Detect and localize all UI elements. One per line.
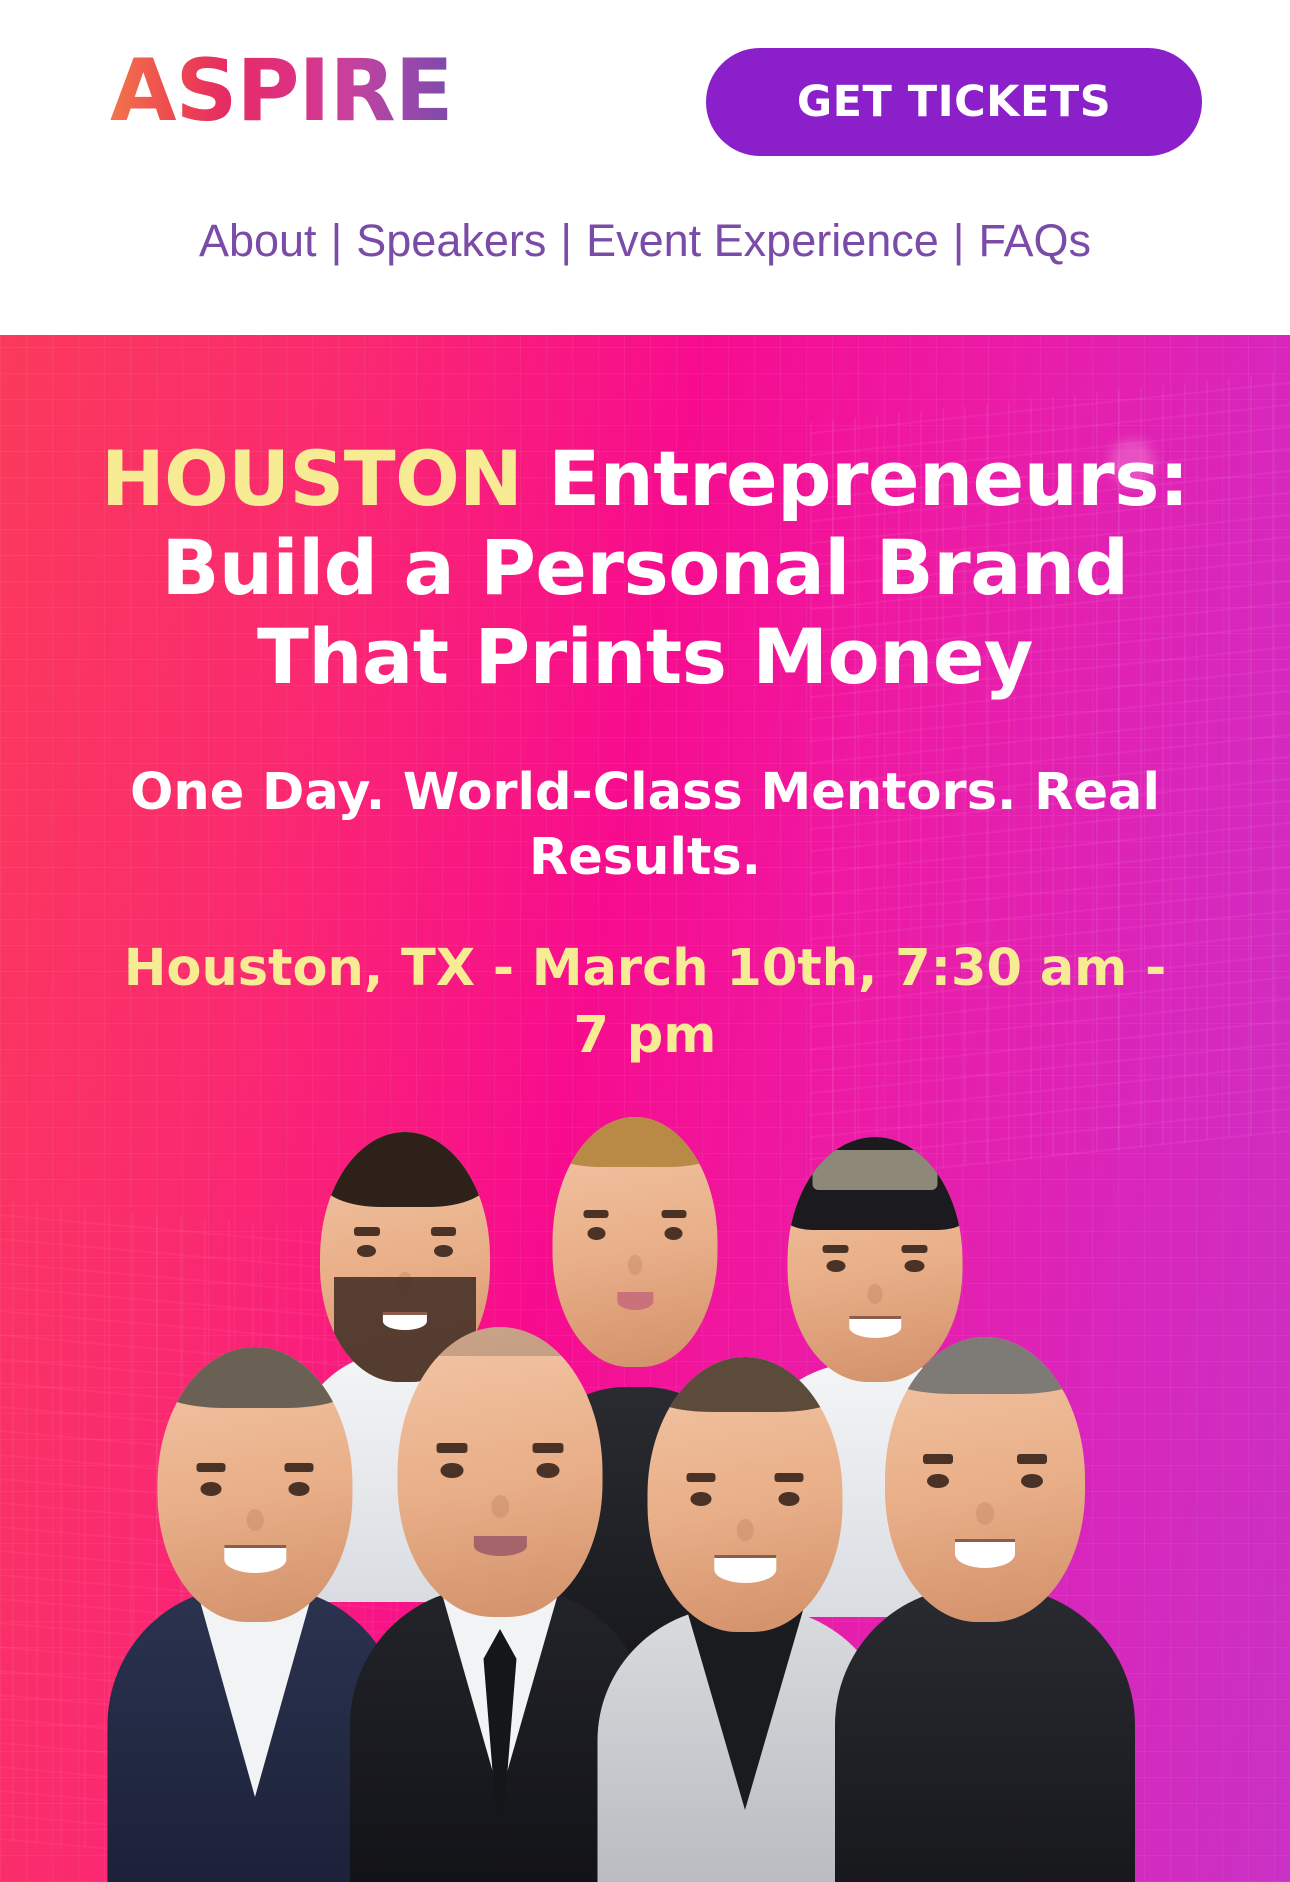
nav-item-about[interactable]: About: [199, 215, 317, 267]
hero-chart-pattern-left: [0, 1195, 400, 1875]
main-navigation: About | Speakers | Event Experience | FA…: [0, 215, 1290, 267]
nav-item-faqs[interactable]: FAQs: [979, 215, 1092, 267]
speaker-group-photo: [0, 1122, 1290, 1882]
backwards-cap-icon: [788, 1137, 963, 1230]
hero-content: HOUSTON Entrepreneurs: Build a Personal …: [0, 335, 1290, 1069]
speaker-avatar-front-3: [620, 1357, 870, 1882]
speaker-avatar-front-4: [860, 1337, 1110, 1882]
hero-headline-city: HOUSTON: [101, 434, 522, 523]
page-root: ASPIRE GET TICKETS About | Speakers | Ev…: [0, 0, 1290, 1882]
hero-subheadline: One Day. World-Class Mentors. Real Resul…: [0, 760, 1290, 891]
nav-item-speakers[interactable]: Speakers: [356, 215, 546, 267]
hero-datetime: Houston, TX - March 10th, 7:30 am - 7 pm: [0, 936, 1290, 1069]
nav-separator: |: [560, 215, 572, 267]
nav-separator: |: [331, 215, 343, 267]
speaker-avatar-front-1: [130, 1347, 380, 1882]
speaker-avatar-front-2: [370, 1327, 630, 1882]
nav-separator: |: [953, 215, 965, 267]
speaker-avatar-back-left: [300, 1132, 510, 1602]
speaker-avatar-back-center: [505, 1117, 765, 1677]
speaker-avatar-back-right: [755, 1137, 995, 1617]
nav-item-event-experience[interactable]: Event Experience: [586, 215, 939, 267]
aspire-logo[interactable]: ASPIRE: [110, 48, 453, 134]
site-header: ASPIRE GET TICKETS About | Speakers | Ev…: [0, 0, 1290, 335]
hero-headline: HOUSTON Entrepreneurs: Build a Personal …: [0, 435, 1290, 702]
hero-section: HOUSTON Entrepreneurs: Build a Personal …: [0, 335, 1290, 1882]
get-tickets-button[interactable]: GET TICKETS: [706, 48, 1202, 156]
